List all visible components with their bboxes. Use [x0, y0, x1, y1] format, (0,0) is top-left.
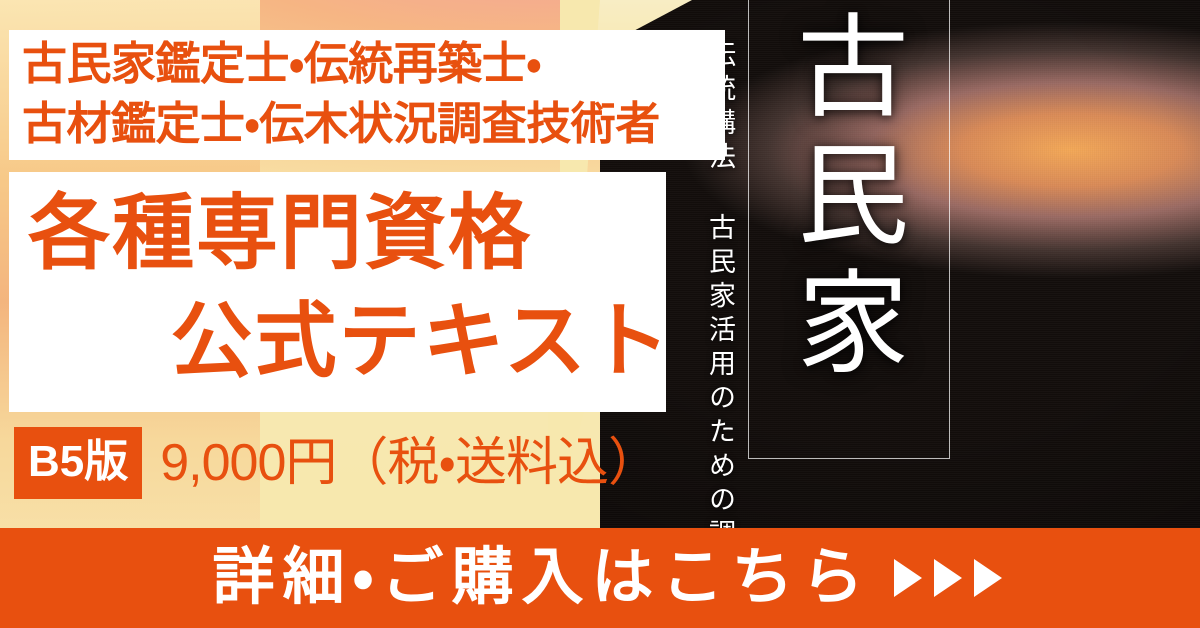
cta-arrows	[894, 559, 1002, 597]
cover-title: 古民家	[786, 8, 898, 392]
promo-banner: 伝統構法 古民家活用のための調査と再生の 古民家 古民家鑑定士・伝統再築士・ 古…	[0, 0, 1200, 628]
play-triangle-icon	[974, 559, 1002, 597]
certifications-text: 古民家鑑定士・伝統再築士・ 古材鑑定士・伝木状況調査技術者	[22, 34, 722, 154]
play-triangle-icon	[934, 559, 962, 597]
headline-line-1: 各種専門資格	[22, 180, 682, 288]
price-amount: 9,000円（税・送料込）	[160, 437, 659, 489]
cta-label: 詳細・ご購入はこちら	[198, 547, 871, 609]
certifications-line-2: 古材鑑定士・伝木状況調査技術者	[22, 94, 722, 154]
play-triangle-icon	[894, 559, 922, 597]
format-badge: B5版	[14, 427, 142, 499]
cta-bar[interactable]: 詳細・ご購入はこちら	[0, 528, 1200, 628]
price-row: B5版 9,000円（税・送料込）	[14, 427, 659, 499]
certifications-line-1: 古民家鑑定士・伝統再築士・	[22, 34, 722, 94]
headline-line-2: 公式テキスト	[22, 288, 682, 396]
headline-text: 各種専門資格 公式テキスト	[22, 180, 682, 396]
